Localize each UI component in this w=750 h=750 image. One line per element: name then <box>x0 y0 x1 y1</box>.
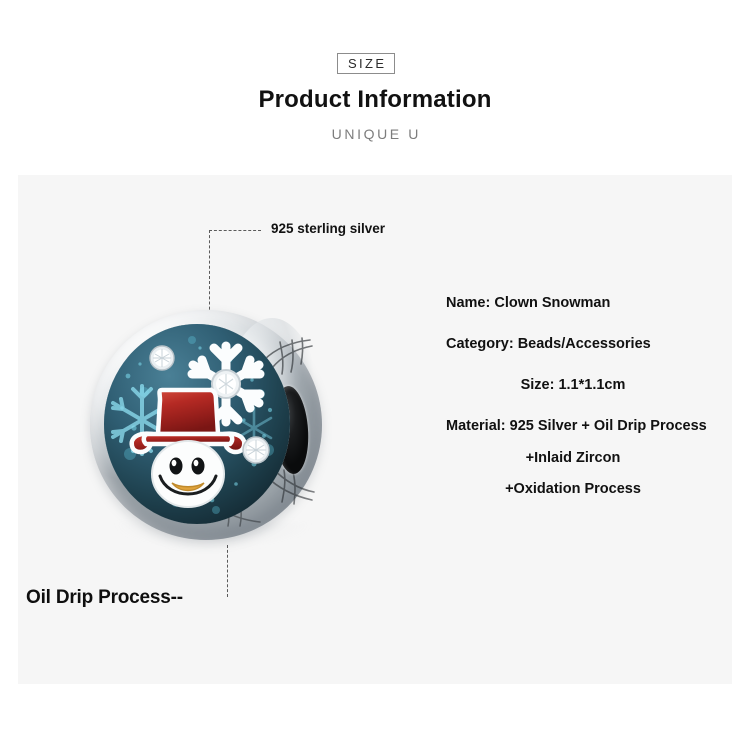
size-badge-label: SIZE <box>346 56 387 71</box>
zircon-stone-icon <box>149 345 175 371</box>
page-subtitle: UNIQUE U <box>0 126 750 142</box>
detail-category: Category: Beads/Accessories <box>446 336 651 353</box>
page-header: SIZE Product Information UNIQUE U <box>0 0 750 175</box>
detail-material-zircon: +Inlaid Zircon <box>428 450 718 467</box>
product-image <box>73 310 353 600</box>
callout-sterling-silver-label: 925 sterling silver <box>271 221 385 236</box>
detail-name: Name: Clown Snowman <box>446 295 610 312</box>
size-badge: SIZE <box>337 53 395 74</box>
callout-leader-line-icon <box>227 545 228 597</box>
detail-size: Size: 1.1*1.1cm <box>428 377 718 394</box>
bead-enamel-face <box>104 324 290 524</box>
detail-material-oxidation: +Oxidation Process <box>428 481 718 498</box>
snowman-icon <box>124 382 256 512</box>
callout-oil-drip-label: Oil Drip Process-- <box>26 587 183 609</box>
detail-material: Material: 925 Silver + Oil Drip Process <box>446 418 707 435</box>
zircon-stone-icon <box>242 436 270 464</box>
charm-bead <box>90 310 322 540</box>
product-panel: 925 sterling silver <box>18 175 732 684</box>
page-title: Product Information <box>0 86 750 114</box>
